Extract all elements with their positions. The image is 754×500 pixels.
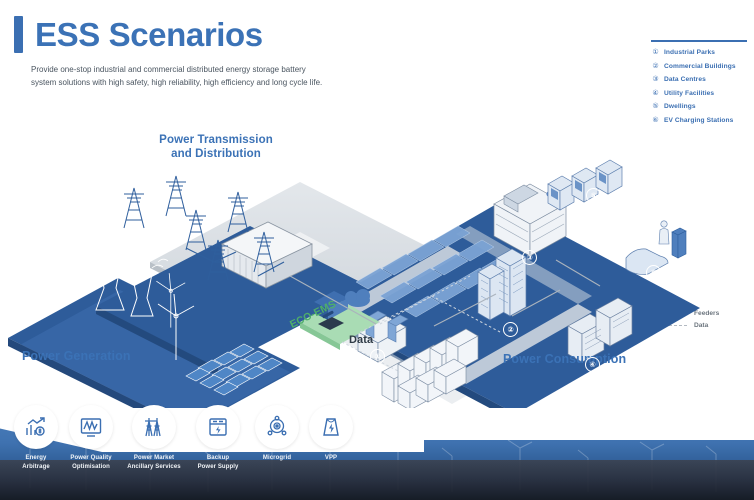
ess-scenarios-page: ESS Scenarios Provide one-stop industria… bbox=[0, 0, 754, 500]
page-subtitle: Provide one-stop industrial and commerci… bbox=[31, 64, 331, 90]
legend-item-label: Data Centres bbox=[664, 76, 706, 83]
app-item-power-quality-optimisation[interactable]: Power QualityOptimisation bbox=[63, 405, 119, 472]
sun-icon bbox=[537, 124, 561, 148]
dwellings bbox=[548, 160, 622, 210]
app-item-power-market-ancillary-services[interactable]: Power MarketAncillary Services bbox=[126, 405, 182, 472]
label-power-consumption: Power Consumption bbox=[503, 352, 626, 368]
marker-industrial-parks[interactable]: ① bbox=[370, 349, 385, 364]
marker-data-centres[interactable]: ③ bbox=[522, 250, 537, 265]
title-row: ESS Scenarios bbox=[14, 16, 263, 53]
legend-number-icon: ① bbox=[651, 49, 660, 56]
app-item-vpp[interactable]: VPP bbox=[303, 405, 359, 463]
legend-item-dwellings[interactable]: ⑤ Dwellings bbox=[651, 103, 751, 110]
battery-box-icon[interactable] bbox=[196, 405, 240, 449]
app-item-backup-power-supply[interactable]: BackupPower Supply bbox=[190, 405, 246, 472]
cooling-tower-bolt-icon[interactable] bbox=[309, 405, 353, 449]
legend-number-icon: ③ bbox=[651, 76, 660, 83]
app-item-microgrid[interactable]: Microgrid bbox=[249, 405, 305, 463]
legend-divider bbox=[651, 40, 747, 42]
legend-item-industrial-parks[interactable]: ① Industrial Parks bbox=[651, 49, 751, 56]
legend-item-label: Commercial Buildings bbox=[664, 63, 736, 70]
marker-dwellings[interactable]: ⑤ bbox=[586, 188, 601, 203]
legend-item-label: Industrial Parks bbox=[664, 49, 715, 56]
app-label: Power QualityOptimisation bbox=[63, 454, 119, 472]
application-icons-row: EnergyArbitrage Power QualityOptimisatio… bbox=[0, 405, 754, 500]
app-label: Power MarketAncillary Services bbox=[126, 454, 182, 472]
label-power-transmission: Power Transmission and Distribution bbox=[152, 133, 280, 162]
legend-item-label: Utility Facilities bbox=[664, 90, 714, 97]
microgrid-node-icon[interactable] bbox=[255, 405, 299, 449]
isometric-scenario-diagram: Power Transmission and Distribution Powe… bbox=[0, 110, 754, 410]
legend-number-icon: ④ bbox=[651, 90, 660, 97]
legend-item-label: Dwellings bbox=[664, 103, 696, 110]
legend-number-icon: ② bbox=[651, 63, 660, 70]
marker-ev-charging-stations[interactable]: ⑥ bbox=[646, 265, 661, 280]
cloud-icon bbox=[345, 289, 370, 307]
app-label: BackupPower Supply bbox=[190, 454, 246, 472]
label-data: Data bbox=[349, 334, 373, 348]
title-accent-bar bbox=[14, 16, 23, 53]
marker-utility-facilities[interactable]: ④ bbox=[585, 357, 600, 372]
page-header: ESS Scenarios Provide one-stop industria… bbox=[0, 0, 754, 120]
waveform-monitor-icon[interactable] bbox=[69, 405, 113, 449]
app-label: Microgrid bbox=[249, 454, 305, 463]
app-item-energy-arbitrage[interactable]: EnergyArbitrage bbox=[8, 405, 64, 472]
legend-number-icon: ⑤ bbox=[651, 103, 660, 110]
legend-item-utility-facilities[interactable]: ④ Utility Facilities bbox=[651, 90, 751, 97]
marker-commercial-buildings[interactable]: ② bbox=[503, 322, 518, 337]
growth-chart-icon[interactable] bbox=[14, 405, 58, 449]
crane-tower-icon[interactable] bbox=[132, 405, 176, 449]
app-label: EnergyArbitrage bbox=[8, 454, 64, 472]
legend-item-commercial-buildings[interactable]: ② Commercial Buildings bbox=[651, 63, 751, 70]
label-power-generation: Power Generation bbox=[22, 349, 131, 365]
app-label: VPP bbox=[303, 454, 359, 463]
scene-svg bbox=[0, 110, 754, 410]
page-title: ESS Scenarios bbox=[35, 18, 263, 51]
legend-item-data-centres[interactable]: ③ Data Centres bbox=[651, 76, 751, 83]
